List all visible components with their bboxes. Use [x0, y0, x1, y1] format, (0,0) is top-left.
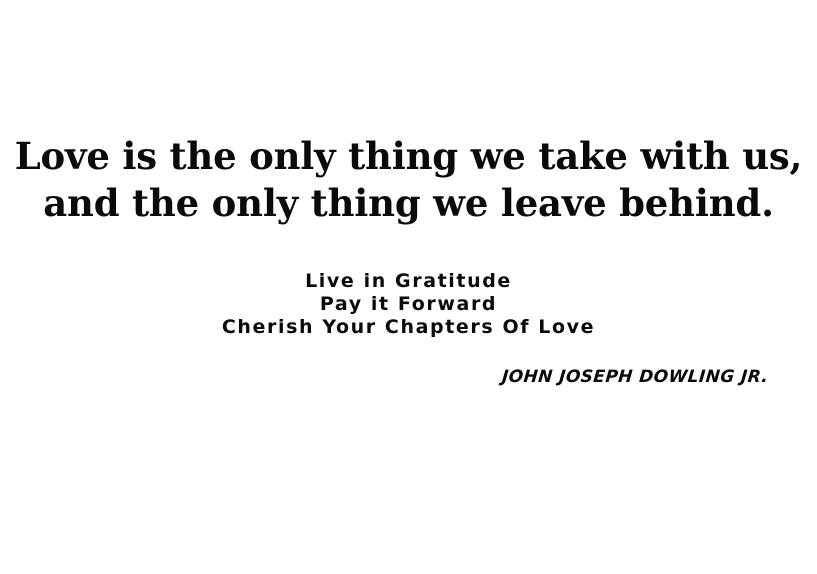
quote-line-1: Love is the only thing we take with us,	[0, 134, 817, 178]
affirmations-block: Live in Gratitude Pay it Forward Cherish…	[0, 270, 817, 339]
affirmation-line-1: Live in Gratitude	[0, 270, 817, 293]
affirmation-line-3: Cherish Your Chapters Of Love	[0, 316, 817, 339]
quote-block: Love is the only thing we take with us, …	[0, 134, 817, 225]
attribution: JOHN JOSEPH DOWLING JR.	[0, 366, 817, 388]
affirmation-line-2: Pay it Forward	[0, 293, 817, 316]
quote-poster: Love is the only thing we take with us, …	[0, 0, 817, 574]
quote-line-2: and the only thing we leave behind.	[0, 181, 817, 225]
author-name: JOHN JOSEPH DOWLING JR.	[501, 366, 769, 388]
